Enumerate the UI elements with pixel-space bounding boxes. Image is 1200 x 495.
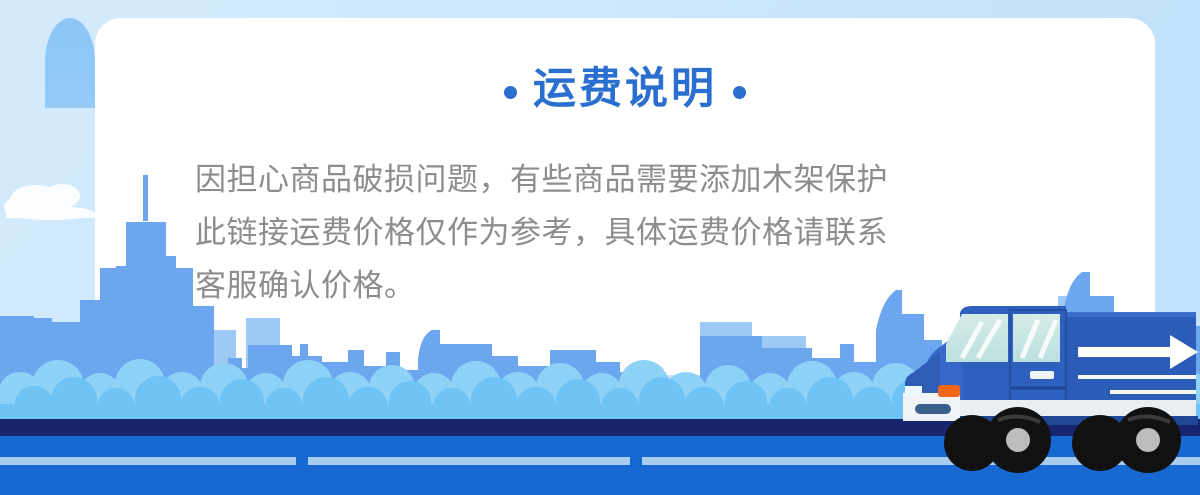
wheel-front-outer-hub [1006, 428, 1030, 452]
title-dot-right-icon [733, 86, 746, 99]
truck-box-topedge [1066, 312, 1196, 317]
truck-turn-signal [938, 385, 960, 397]
banner-body-text: 因担心商品破损问题，有些商品需要添加木架保护 此链接运费价格仅作为参考，具体运费… [195, 153, 1010, 312]
body-line-2: 此链接运费价格仅作为参考，具体运费价格请联系 [195, 206, 1010, 259]
truck-bumper-slot [915, 404, 951, 414]
banner-stage: 运费说明 因担心商品破损问题，有些商品需要添加木架保护 此链接运费价格仅作为参考… [0, 0, 1200, 495]
page-title: 运费说明 [533, 68, 717, 111]
wheel-rear-outer-hub [1136, 428, 1160, 452]
body-line-1: 因担心商品破损问题，有些商品需要添加木架保护 [195, 153, 1010, 206]
page-title-row: 运费说明 [95, 68, 1155, 111]
title-dot-left-icon [504, 86, 517, 99]
body-line-3: 客服确认价格。 [195, 259, 1010, 312]
truck-headlight [905, 386, 922, 396]
truck-door-handle [1030, 371, 1054, 379]
